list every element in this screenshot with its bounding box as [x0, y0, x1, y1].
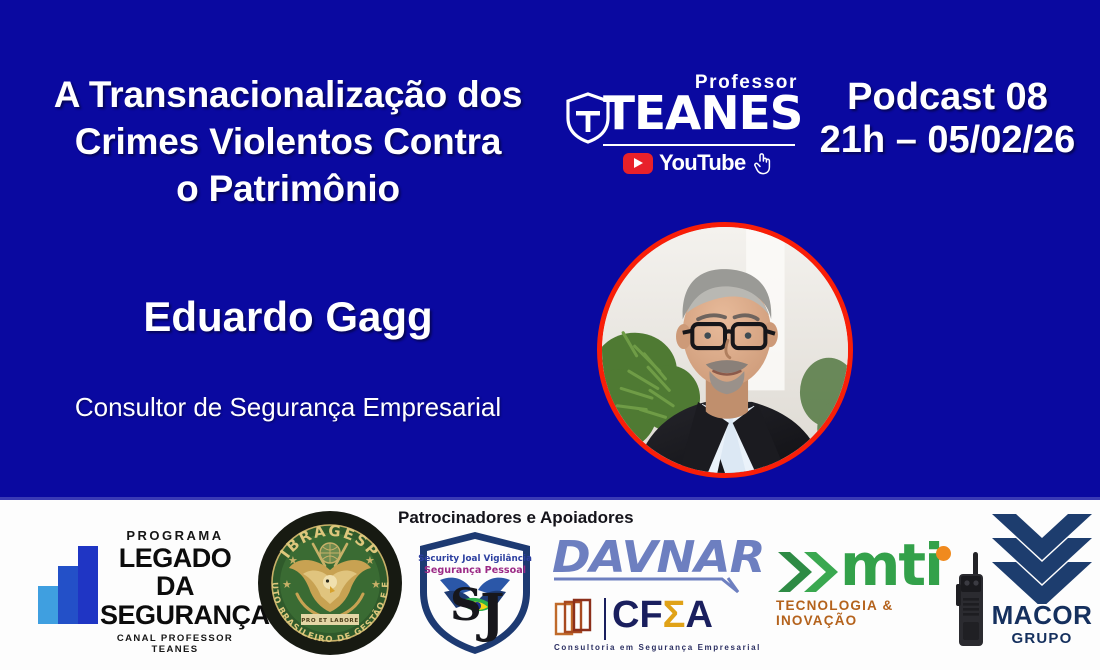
- title-line-1: A Transnacionalização dos: [8, 72, 568, 119]
- brand-logo[interactable]: Professor TEANES YouTube: [565, 72, 800, 172]
- double-chevron-icon: [776, 548, 842, 596]
- layered-squares-icon: [552, 598, 598, 640]
- podcast-announcement-poster: A Transnacionalização dos Crimes Violent…: [0, 0, 1100, 670]
- svg-text:J: J: [476, 583, 505, 644]
- sponsors-heading: Patrocinadores e Apoiadores: [398, 508, 634, 528]
- episode-number: Podcast 08: [800, 76, 1095, 119]
- sponsor-cfea-subtitle: Consultoria em Segurança Empresarial: [554, 643, 761, 652]
- cfea-name-sigma: Σ: [663, 594, 686, 636]
- cfea-name-prefix: CF: [612, 594, 663, 636]
- radio-device-icon: [954, 550, 988, 650]
- episode-info: Podcast 08 21h – 05/02/26: [800, 76, 1095, 163]
- page-title: A Transnacionalização dos Crimes Violent…: [8, 72, 568, 213]
- speaker-role: Consultor de Segurança Empresarial: [8, 392, 568, 423]
- brand-name: TEANES: [603, 90, 802, 136]
- sponsor-macor[interactable]: MACOR GRUPO: [988, 512, 1096, 658]
- pointing-hand-icon: [752, 151, 774, 175]
- sponsor-mti[interactable]: mti TECNOLOGIA & INOVAÇÃO: [776, 544, 956, 634]
- sponsor-legado-name-line2: SEGURANÇA: [100, 602, 250, 630]
- sponsor-security-joal[interactable]: Security Joal Vigilância Segurança Pesso…: [410, 528, 540, 658]
- sponsor-mti-name: mti: [840, 536, 942, 594]
- sponsor-davnar[interactable]: DAVNAR: [552, 532, 752, 590]
- svg-text:★: ★: [282, 578, 292, 591]
- sponsor-macor-name: MACOR: [988, 600, 1096, 631]
- sponsor-legado-text: PROGRAMA LEGADO DA SEGURANÇA CANAL PROFE…: [100, 528, 250, 655]
- title-line-3: o Patrimônio: [8, 166, 568, 213]
- youtube-label: YouTube: [659, 150, 746, 176]
- sponsor-legado-subtitle: CANAL PROFESSOR TEANES: [100, 633, 250, 655]
- title-line-2: Crimes Violentos Contra: [8, 119, 568, 166]
- svg-text:★: ★: [371, 578, 381, 591]
- sponsor-macor-subtitle: GRUPO: [988, 630, 1096, 647]
- davnar-swoosh-icon: [552, 572, 752, 594]
- svg-text:PRO ET LABORE: PRO ET LABORE: [301, 618, 359, 624]
- youtube-play-icon: [623, 153, 653, 174]
- sponsor-ibragesp[interactable]: ★★ ★★ IBRAGESP INSTITUTO BRASILEIRO DE G…: [255, 508, 405, 658]
- staircase-blocks-icon: [38, 546, 102, 624]
- sponsor-mti-subtitle: TECNOLOGIA & INOVAÇÃO: [776, 598, 956, 628]
- cfea-name-suffix: A: [685, 594, 712, 636]
- sponsors-footer: Patrocinadores e Apoiadores PROGRAMA: [0, 500, 1100, 670]
- youtube-badge[interactable]: YouTube: [623, 150, 774, 176]
- cfea-divider: [604, 598, 606, 640]
- sponsor-cfea[interactable]: CFΣA Consultoria em Segurança Empresaria…: [552, 596, 762, 660]
- svg-text:S: S: [450, 580, 482, 631]
- svg-text:Segurança Pessoal: Segurança Pessoal: [424, 565, 526, 576]
- sponsor-cfea-name: CFΣA: [612, 596, 713, 636]
- sponsor-legado-da-seguranca[interactable]: PROGRAMA LEGADO DA SEGURANÇA CANAL PROFE…: [38, 528, 248, 650]
- brand-underline: [603, 144, 795, 146]
- episode-datetime: 21h – 05/02/26: [800, 119, 1095, 162]
- sponsor-legado-name-line1: LEGADO DA: [100, 545, 250, 600]
- speaker-name: Eduardo Gagg: [8, 293, 568, 341]
- speaker-avatar: [597, 222, 853, 478]
- mti-dot-accent: [936, 546, 951, 561]
- sponsor-legado-kicker: PROGRAMA: [100, 528, 250, 543]
- svg-text:Security Joal Vigilância: Security Joal Vigilância: [418, 554, 532, 564]
- triple-chevron-icon: [988, 512, 1096, 604]
